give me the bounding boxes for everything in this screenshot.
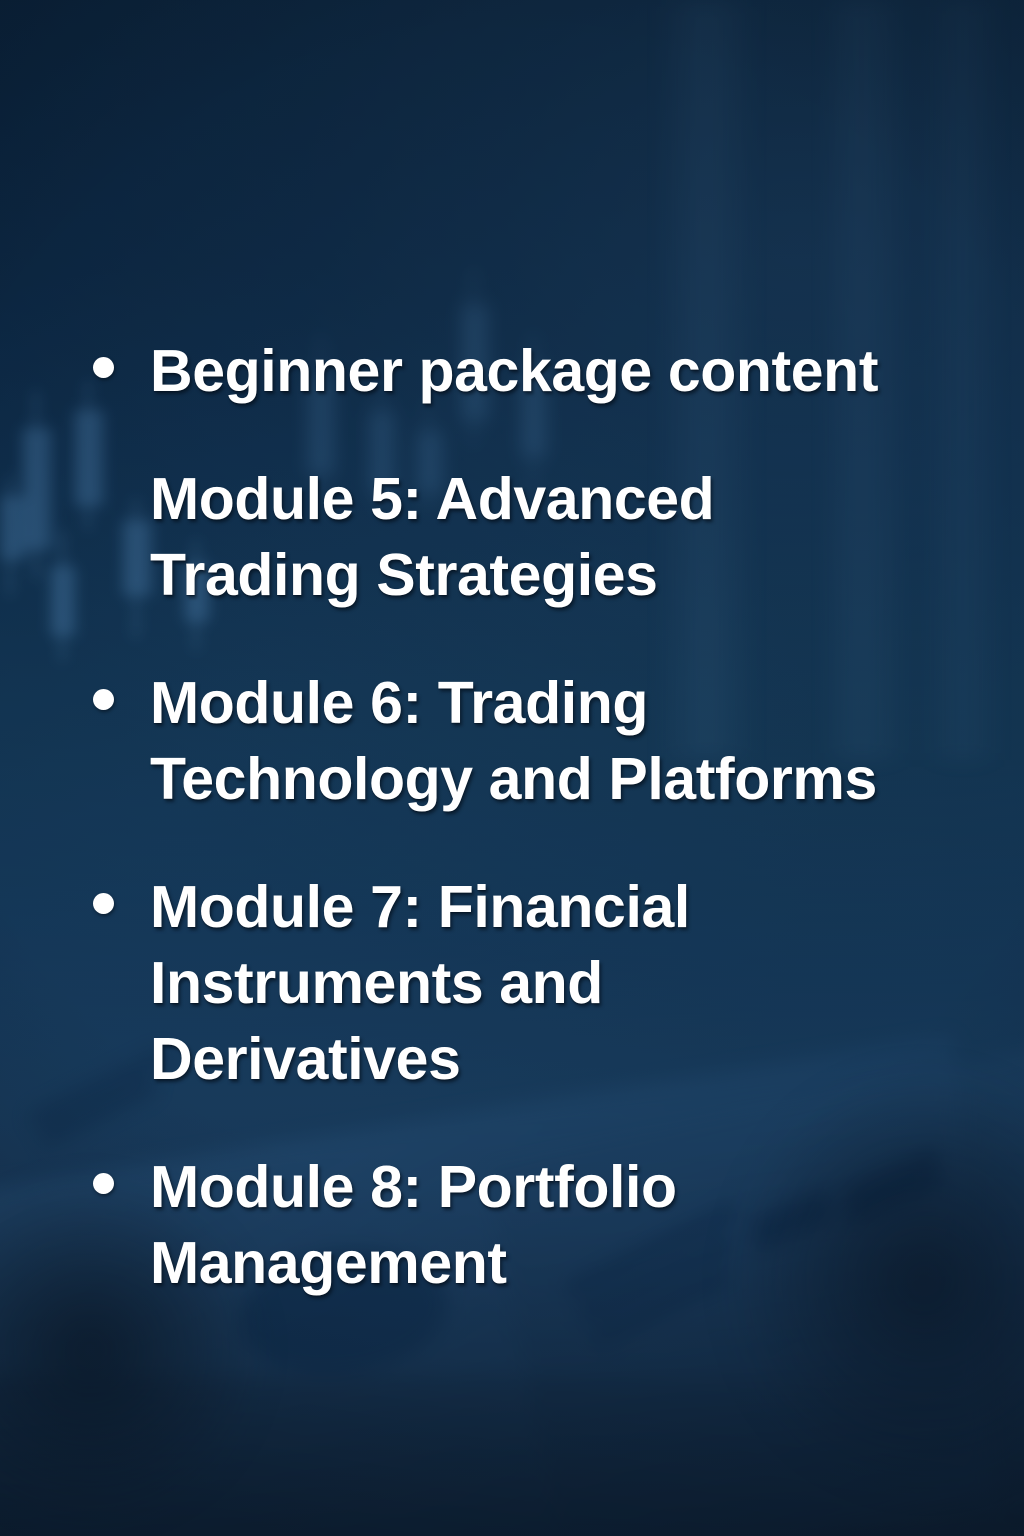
list-item-label: Module 8: Portfolio Management	[150, 1149, 968, 1301]
bullet-dot-icon	[93, 357, 114, 378]
bullet-dot-icon	[93, 689, 114, 710]
list-item-label: Module 7: Financial Instruments and Deri…	[150, 869, 968, 1097]
list-item: Beginner package content	[88, 333, 968, 409]
list-item: Module 7: Financial Instruments and Deri…	[88, 869, 968, 1097]
bullet-list: Beginner package content Module 5: Advan…	[88, 333, 968, 1301]
bullet-dot-icon	[93, 1173, 114, 1194]
list-item: Module 8: Portfolio Management	[88, 1149, 968, 1301]
list-item: Module 6: Trading Technology and Platfor…	[88, 665, 968, 817]
list-item-label: Beginner package content	[150, 333, 968, 409]
list-item-label: Module 6: Trading Technology and Platfor…	[150, 665, 968, 817]
slide-canvas: Beginner package content Module 5: Advan…	[0, 0, 1024, 1536]
bullet-dot-icon	[93, 893, 114, 914]
list-item: Module 5: Advanced Trading Strategies	[88, 461, 968, 613]
slide-content: Beginner package content Module 5: Advan…	[0, 0, 1024, 1536]
list-item-label: Module 5: Advanced Trading Strategies	[150, 461, 968, 613]
